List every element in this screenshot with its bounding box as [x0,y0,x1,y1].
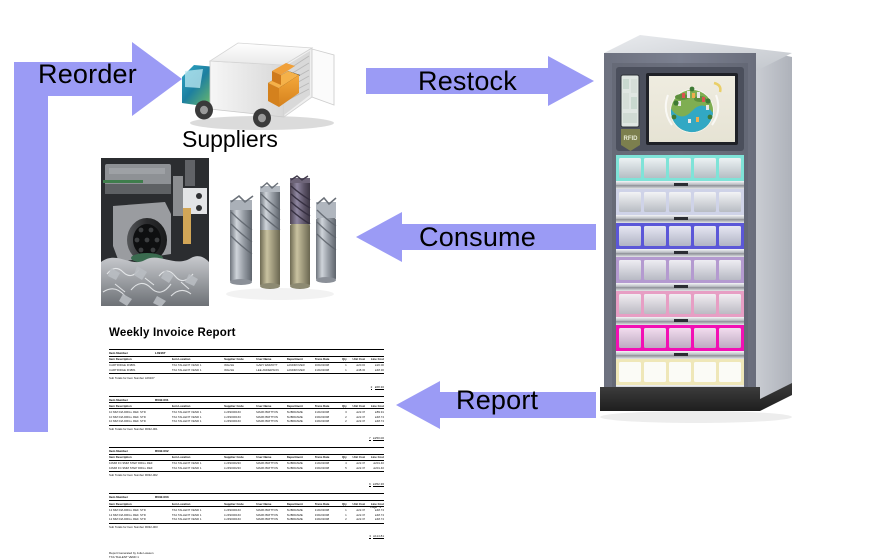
drawer-row [616,189,744,223]
subtotal-value: 7 £250.00 [109,431,384,440]
report-footer: Report Generated by Julie Lawson TXA TAL… [109,551,393,559]
item-number-row: Item Number R032-001 [109,396,384,403]
arrow-consume-label: Consume [419,222,536,253]
table-row: 10 MM DIA DRILL REF. STD TXA TALLENT VEN… [109,419,384,424]
subtotal-value: 3 £114.81 [109,529,384,538]
subtotal-value: 9 £352.36 [109,477,384,486]
drawer-row [616,291,744,325]
report-column-headers: Item Description Item Location Supplier … [109,356,384,363]
arrow-restock-label: Restock [418,66,517,97]
drawer-row [616,257,744,291]
col-item-location: Item Location [172,357,224,361]
item-number-label: Item Number [109,351,155,355]
drawer-row [616,223,744,257]
table-row: 12 MM DIA DRILL REF. STD TXA TALLENT VEN… [109,517,384,522]
report-group: Item Number L09167 Item Description Item… [109,349,384,389]
table-row: 12 MM DIA DRILL REF. STD TXA TALLENT VEN… [109,512,384,517]
col-unit-cost: Unit Cost [347,357,366,361]
arrow-report-label: Report [456,385,538,416]
report-column-headers: Item Description Item Location Supplier … [109,402,384,409]
table-row: CARTRIDGE FN881 TXA TALLENT VEND 1 WALSH… [109,363,384,368]
table-row: 10MM FC 9MM STEP DRILL REF TXA TALLENT V… [109,466,384,471]
col-qty: Qty [337,357,346,361]
table-row: 10 MM DIA DRILL REF. STD TXA TALLENT VEN… [109,414,384,419]
item-number-row: Item Number R032-003 [109,493,384,500]
drawer-row [616,325,744,359]
table-row: 10 MM DIA DRILL REF. STD TXA TALLENT VEN… [109,409,384,414]
cnc-machining-photo [101,158,209,306]
item-number-row: Item Number L09167 [109,349,384,356]
report-body: Item Number L09167 Item Description Item… [109,349,384,538]
table-row: CARTRIDGE FN881 TXA TALLENT VEND 1 WALSH… [109,368,384,373]
report-column-headers: Item Description Item Location Supplier … [109,500,384,507]
suppliers-truck-graphic [176,31,342,131]
report-column-headers: Item Description Item Location Supplier … [109,454,384,461]
report-footer-line2: TXA TALLENT VEND 1 [109,555,393,559]
report-page-indicator: Page 1 [370,505,381,509]
col-line-cost: Line Cost [365,357,384,361]
arrow-reorder-label: Reorder [38,59,137,90]
col-item-description: Item Description [109,357,172,361]
item-number-value: L09167 [155,351,215,355]
report-title: Weekly Invoice Report [109,327,393,339]
col-department: Department [287,357,315,361]
drawer-row [616,155,744,189]
col-supplier-code: Supplier Code [224,357,256,361]
table-row: 10MM FC 9MM STEP DRILL REF TXA TALLENT V… [109,461,384,466]
suppliers-caption: Suppliers [182,126,278,153]
weekly-invoice-report: Weekly Invoice Report Item Number L09167… [98,313,393,531]
report-group: Item Number R032-003 Item Description It… [109,493,384,537]
item-number-row: Item Number R032-002 [109,447,384,454]
diagram-canvas: Reorder Restock Consume Report [0,0,877,539]
report-group: Item Number R032-002 Item Description It… [109,447,384,487]
report-group: Item Number R032-001 Item Description It… [109,396,384,440]
subtotal-value: 2 £68.30 [109,380,384,389]
rfid-label: RFID [624,136,639,142]
col-user-name: User Name [256,357,286,361]
table-row: 12 MM DIA DRILL REF. STD TXA TALLENT VEN… [109,507,384,512]
col-trans-date: Trans Date [315,357,338,361]
industrial-vending-machine: RFID [596,27,796,427]
end-mill-tools-photo [218,162,342,308]
